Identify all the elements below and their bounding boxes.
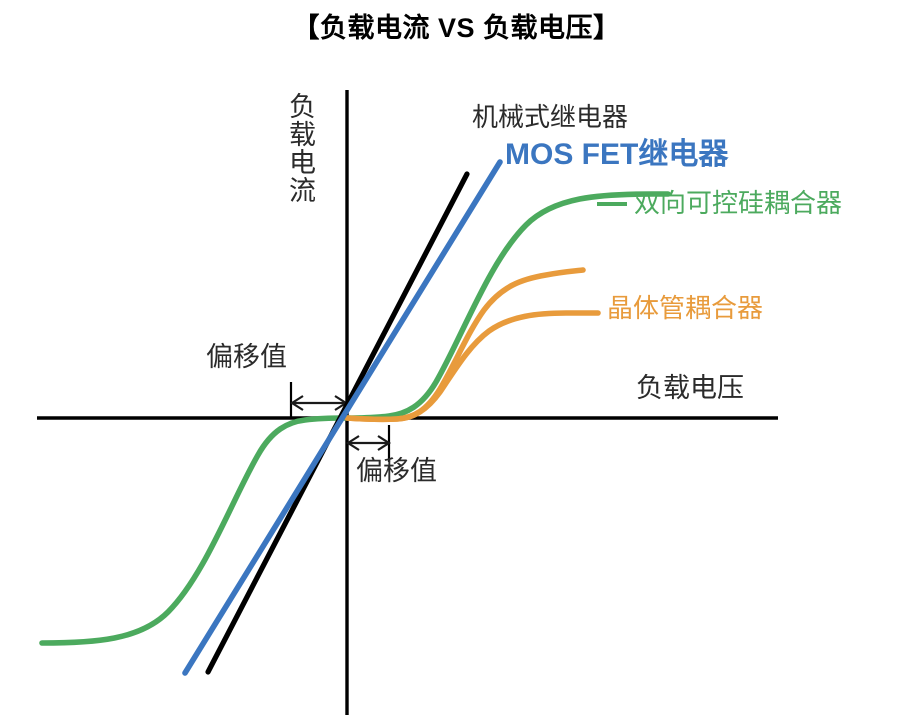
offset-right-arrow (348, 436, 389, 450)
chart-plot-area (0, 0, 913, 728)
series-label-mosfet-relay: MOS FET继电器 (505, 140, 728, 170)
curve-transistor-coupler-upper (347, 270, 583, 419)
offset-right-label: 偏移值 (356, 458, 437, 485)
series-label-transistor-coupler: 晶体管耦合器 (607, 295, 763, 321)
x-axis-label: 负载电压 (636, 375, 744, 402)
series-label-mechanical-relay: 机械式继电器 (472, 104, 628, 130)
offset-left-label: 偏移值 (206, 344, 287, 371)
y-axis-label: 负载电流 (286, 92, 313, 204)
chart-figure: 【负载电流 VS 负载电压】 机械式继电 (0, 0, 913, 728)
offset-left-arrow (292, 396, 346, 410)
series-label-triac-coupler: 双向可控硅耦合器 (634, 190, 842, 216)
